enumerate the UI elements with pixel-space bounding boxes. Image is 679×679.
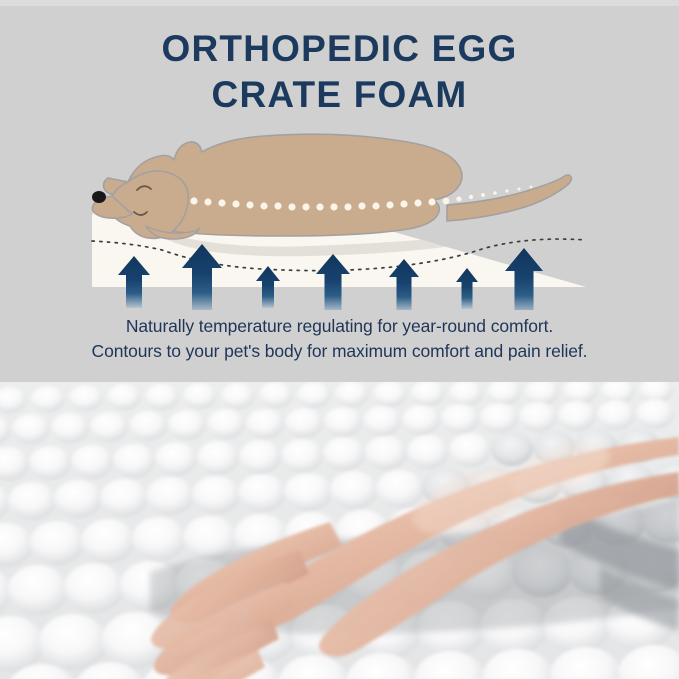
title-line-1: ORTHOPEDIC EGG: [0, 26, 679, 72]
illustration-panel: ORTHOPEDIC EGG CRATE FOAM: [0, 0, 679, 382]
caption-line-2: Contours to your pet's body for maximum …: [0, 339, 679, 364]
top-edge-hairline: [0, 0, 679, 6]
foam-photo-graphic: [0, 382, 679, 679]
caption-line-1: Naturally temperature regulating for yea…: [0, 314, 679, 339]
page-title: ORTHOPEDIC EGG CRATE FOAM: [0, 26, 679, 118]
foam-photo: [0, 382, 679, 679]
sleeping-dog: [92, 134, 571, 239]
feature-caption: Naturally temperature regulating for yea…: [0, 314, 679, 364]
dog-nose: [92, 191, 106, 203]
product-infographic: ORTHOPEDIC EGG CRATE FOAM: [0, 0, 679, 679]
title-line-2: CRATE FOAM: [0, 72, 679, 118]
dog-on-foam-illustration: [0, 120, 679, 310]
